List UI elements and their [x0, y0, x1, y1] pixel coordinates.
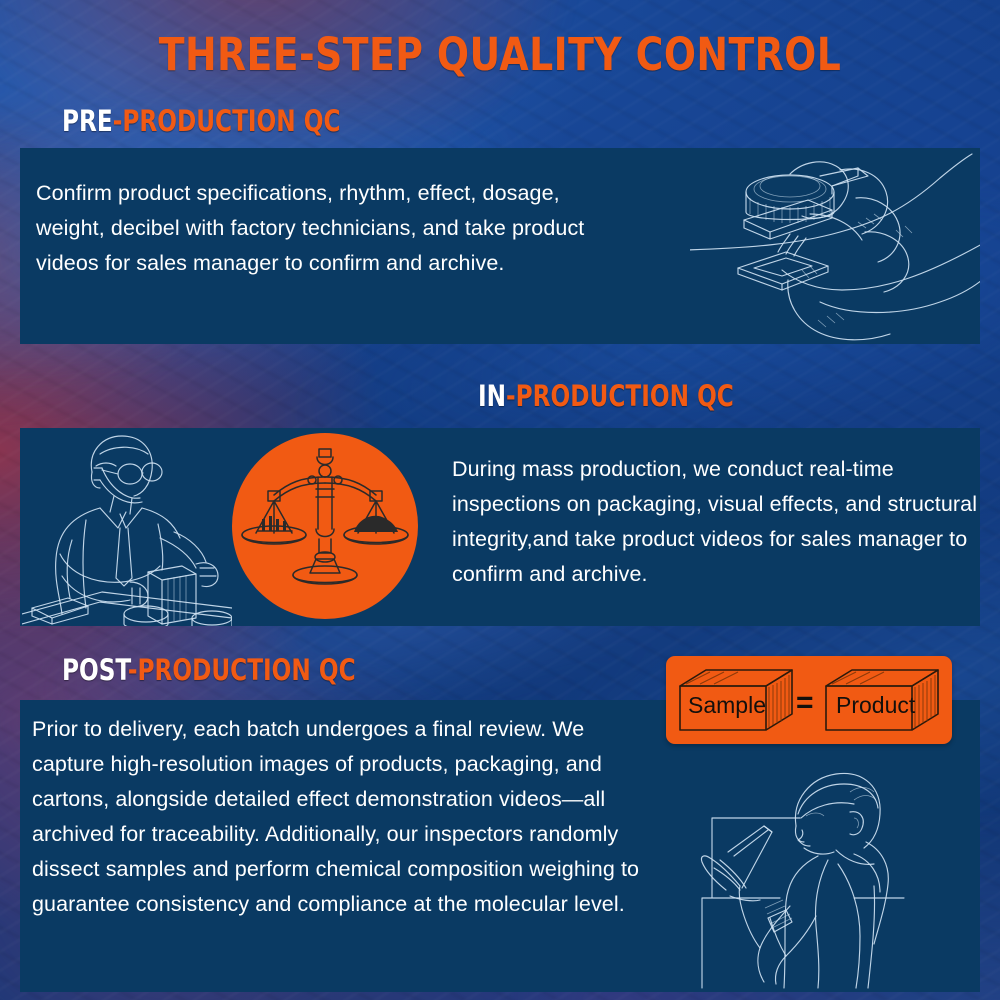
- step-heading-in-production: IN-PRODUCTION QC: [478, 379, 734, 413]
- inspector-with-clipboard-sketch-icon: [668, 756, 968, 992]
- worker-inspecting-product-sketch-icon: [22, 428, 232, 626]
- step-heading-pre-production-white: PRE: [62, 104, 113, 138]
- sample-label: Sample: [688, 692, 766, 718]
- step-heading-in-production-orange: -PRODUCTION QC: [506, 379, 734, 413]
- step-heading-pre-production-orange: -PRODUCTION QC: [113, 104, 341, 138]
- sample-equals-product-diagram: Sample = Product: [666, 656, 952, 744]
- product-label: Product: [836, 692, 916, 718]
- step-heading-post-production-white: POST: [62, 653, 128, 687]
- hand-holding-product-sketch-icon: [690, 152, 980, 342]
- balance-scale-icon: [232, 433, 418, 619]
- step-heading-post-production-orange: -PRODUCTION QC: [128, 653, 356, 687]
- balance-scale-badge: [232, 433, 418, 619]
- step-heading-pre-production: PRE-PRODUCTION QC: [62, 104, 341, 138]
- sample-equals-product-badge: Sample = Product: [666, 656, 952, 744]
- step-heading-in-production-white: IN: [478, 379, 506, 413]
- body-text-post-production: Prior to delivery, each batch undergoes …: [32, 712, 652, 922]
- body-text-in-production: During mass production, we conduct real-…: [452, 452, 982, 592]
- page-title: THREE-STEP QUALITY CONTROL: [80, 28, 920, 81]
- body-text-pre-production: Confirm product specifications, rhythm, …: [36, 176, 596, 281]
- equals-operator: =: [796, 686, 814, 719]
- step-heading-post-production: POST-PRODUCTION QC: [62, 653, 356, 687]
